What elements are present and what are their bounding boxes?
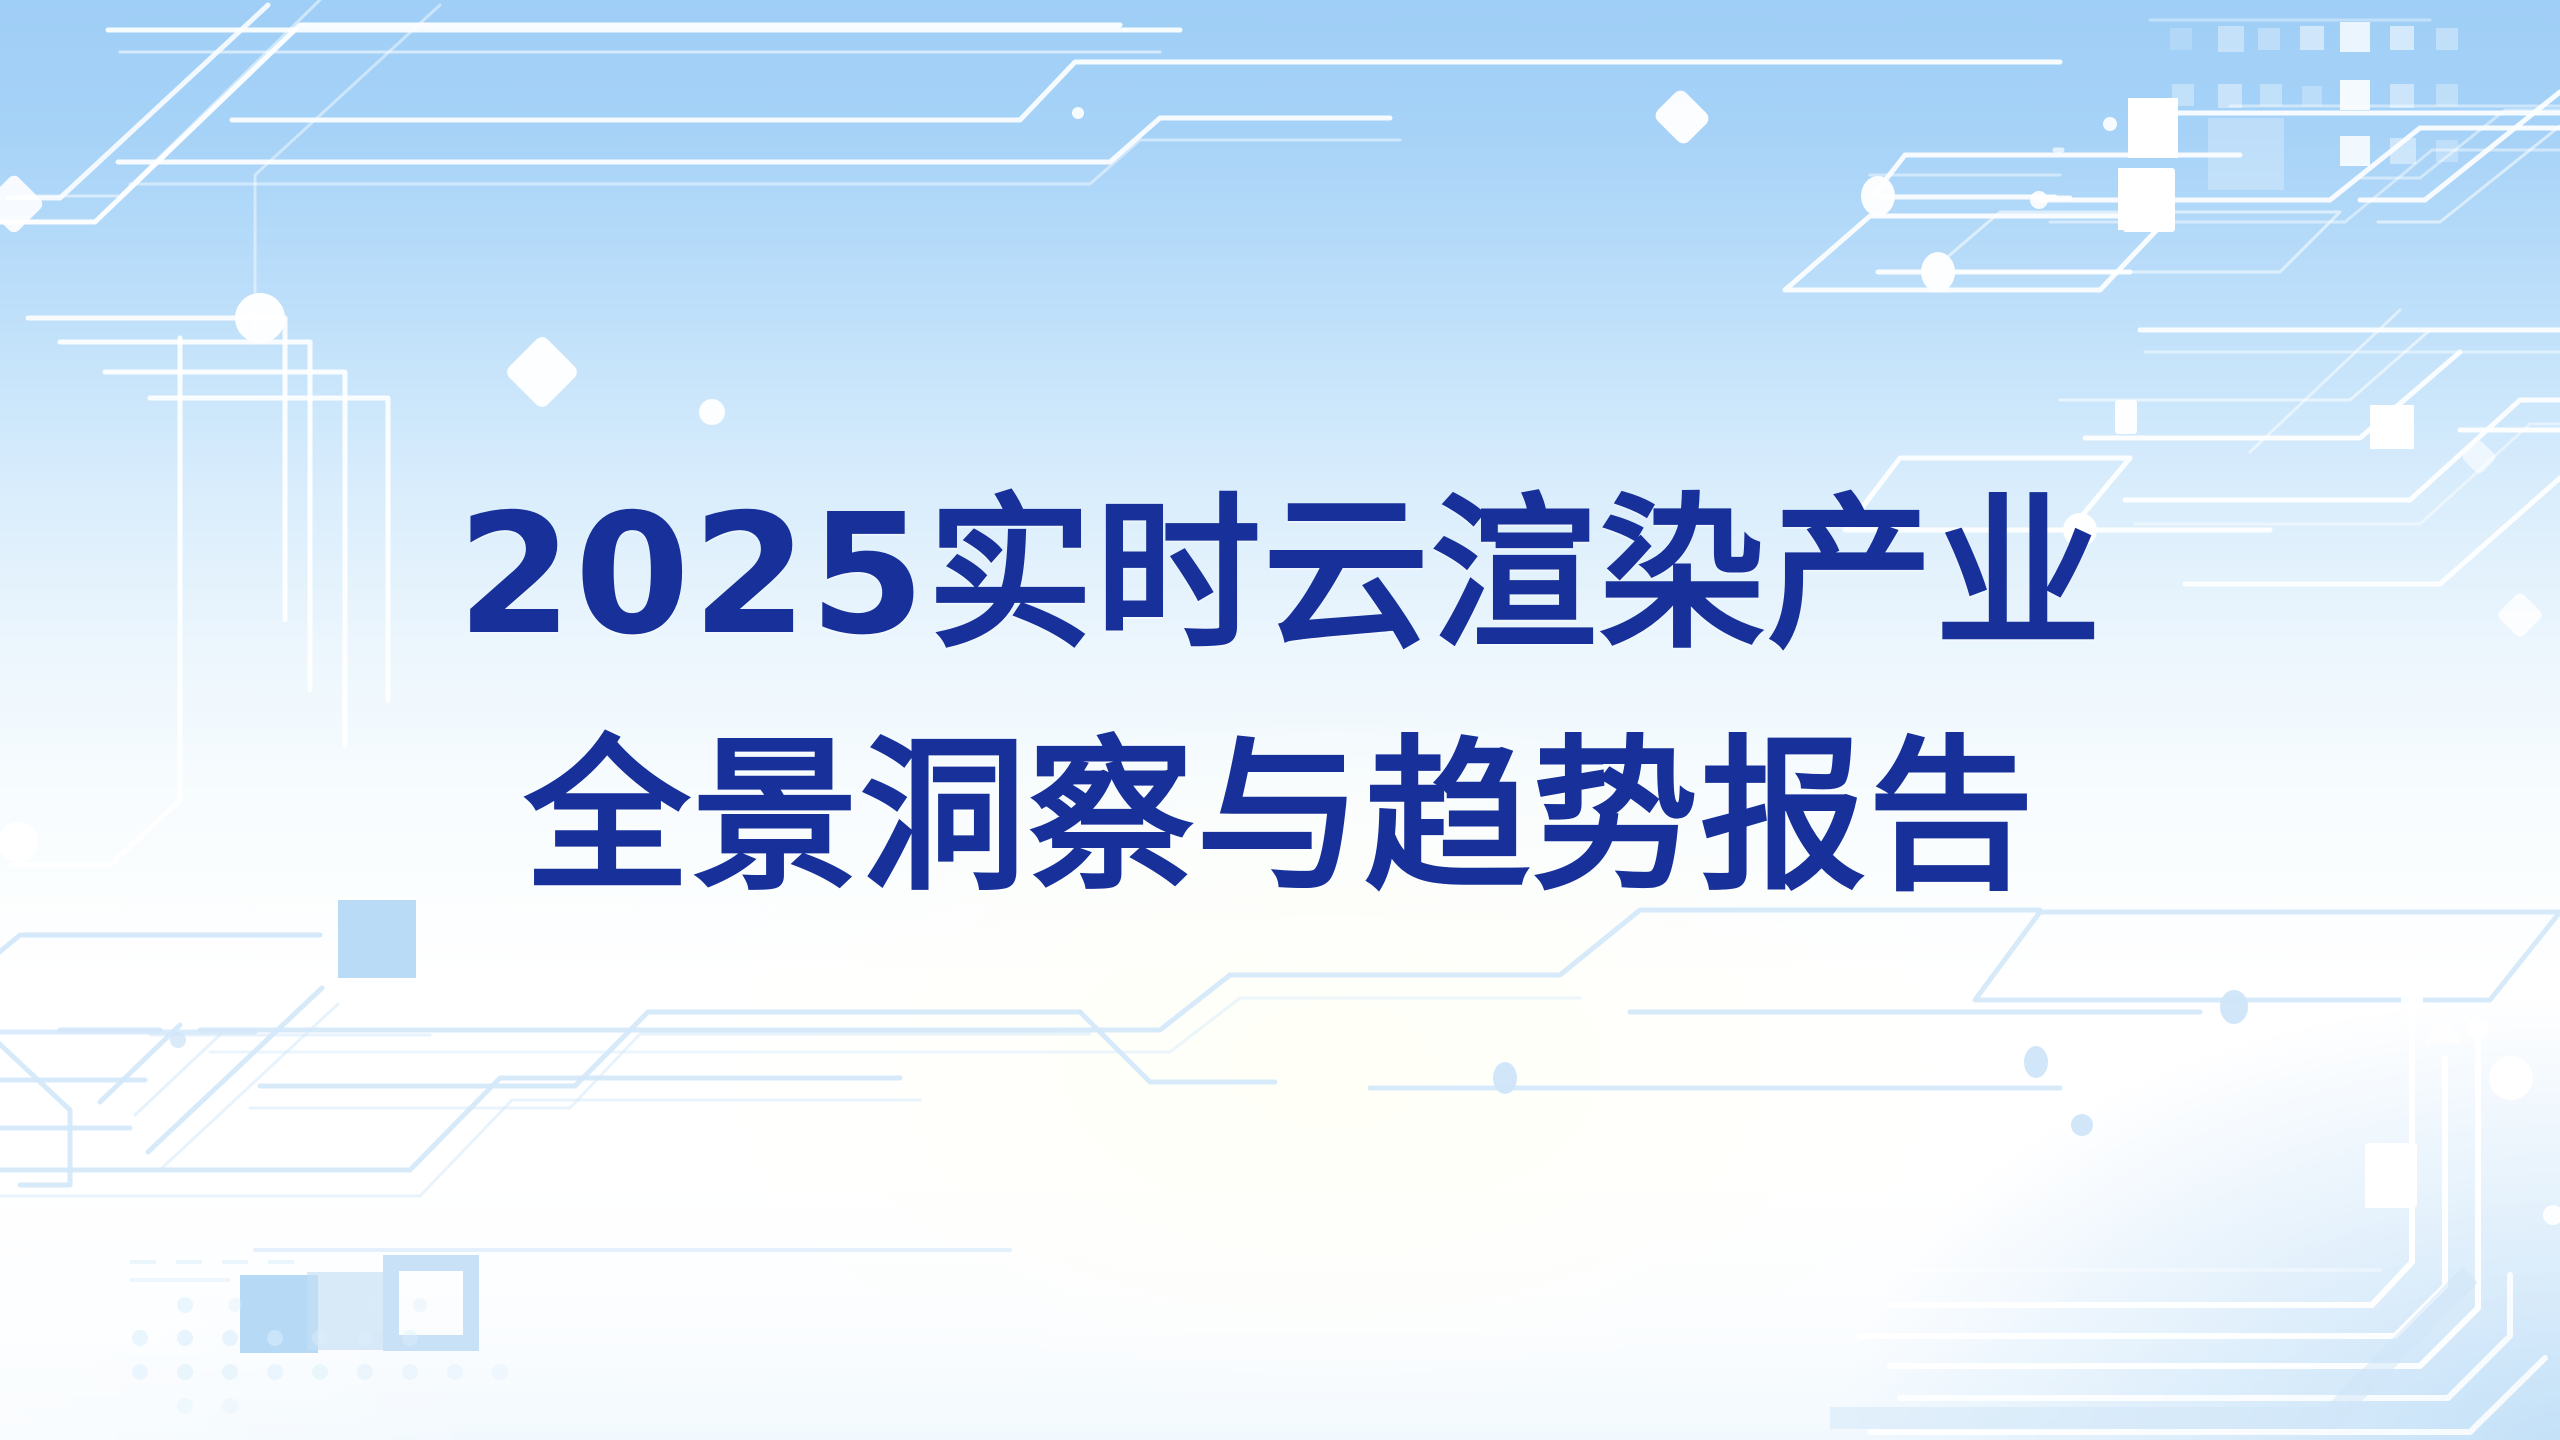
poster-title-line-1: 2025实时云渲染产业 <box>0 455 2560 697</box>
chip-pad-icon <box>2365 1143 2417 1207</box>
diamond-node-icon <box>1652 87 1711 146</box>
circuit-node-icon <box>2103 117 2117 131</box>
circuit-node-icon <box>1072 107 1084 119</box>
circuit-node-icon <box>1861 176 1895 216</box>
diamond-node-icon <box>0 173 45 235</box>
accent-square-icon <box>240 1275 318 1353</box>
bottom-left-dot-grid <box>132 1297 508 1414</box>
accent-square-outline-icon <box>391 1263 471 1343</box>
circuit-node-icon <box>2401 989 2423 1011</box>
circuit-node-icon <box>235 293 285 343</box>
accent-square-icon <box>307 1272 385 1350</box>
bottom-left-accent-squares <box>240 900 471 1353</box>
circuit-node-icon <box>2543 1205 2560 1225</box>
circuit-node-icon <box>2030 191 2048 209</box>
square-marker-icon <box>2365 1148 2415 1208</box>
diamond-node-icon <box>504 334 580 410</box>
circuit-node-icon <box>699 399 725 425</box>
bottom-right-glow-band <box>1830 1275 2470 1418</box>
chip-pad-icon <box>2123 168 2175 232</box>
bottom-left-nodes <box>170 990 2501 1151</box>
circuit-node-icon <box>170 1032 186 1048</box>
circuit-node-icon <box>1493 1062 1517 1094</box>
circuit-node-icon <box>2071 1114 2093 1136</box>
circuit-node-icon <box>1921 252 1955 292</box>
circuit-node-icon <box>2489 1056 2533 1100</box>
square-marker-icon <box>2118 168 2170 230</box>
poster-title: 2025实时云渲染产业 全景洞察与趋势报告 <box>0 455 2560 940</box>
square-marker-icon <box>2128 98 2178 158</box>
bottom-right-nodes <box>2401 989 2560 1225</box>
bottom-left-dash-lines <box>130 1262 310 1280</box>
bottom-right-traces <box>1860 988 2545 1432</box>
top-right-square-grid <box>2170 22 2458 190</box>
circuit-node-icon <box>2220 990 2248 1024</box>
bottom-left-traces <box>0 910 2560 1250</box>
connector-pad-icon <box>2115 400 2137 434</box>
circuit-node-icon <box>2467 1017 2489 1039</box>
square-marker-icon <box>2370 405 2414 449</box>
poster-title-line-2: 全景洞察与趋势报告 <box>0 697 2560 939</box>
circuit-node-icon <box>2024 1046 2048 1078</box>
poster-canvas: 2025实时云渲染产业 全景洞察与趋势报告 <box>0 0 2560 1440</box>
